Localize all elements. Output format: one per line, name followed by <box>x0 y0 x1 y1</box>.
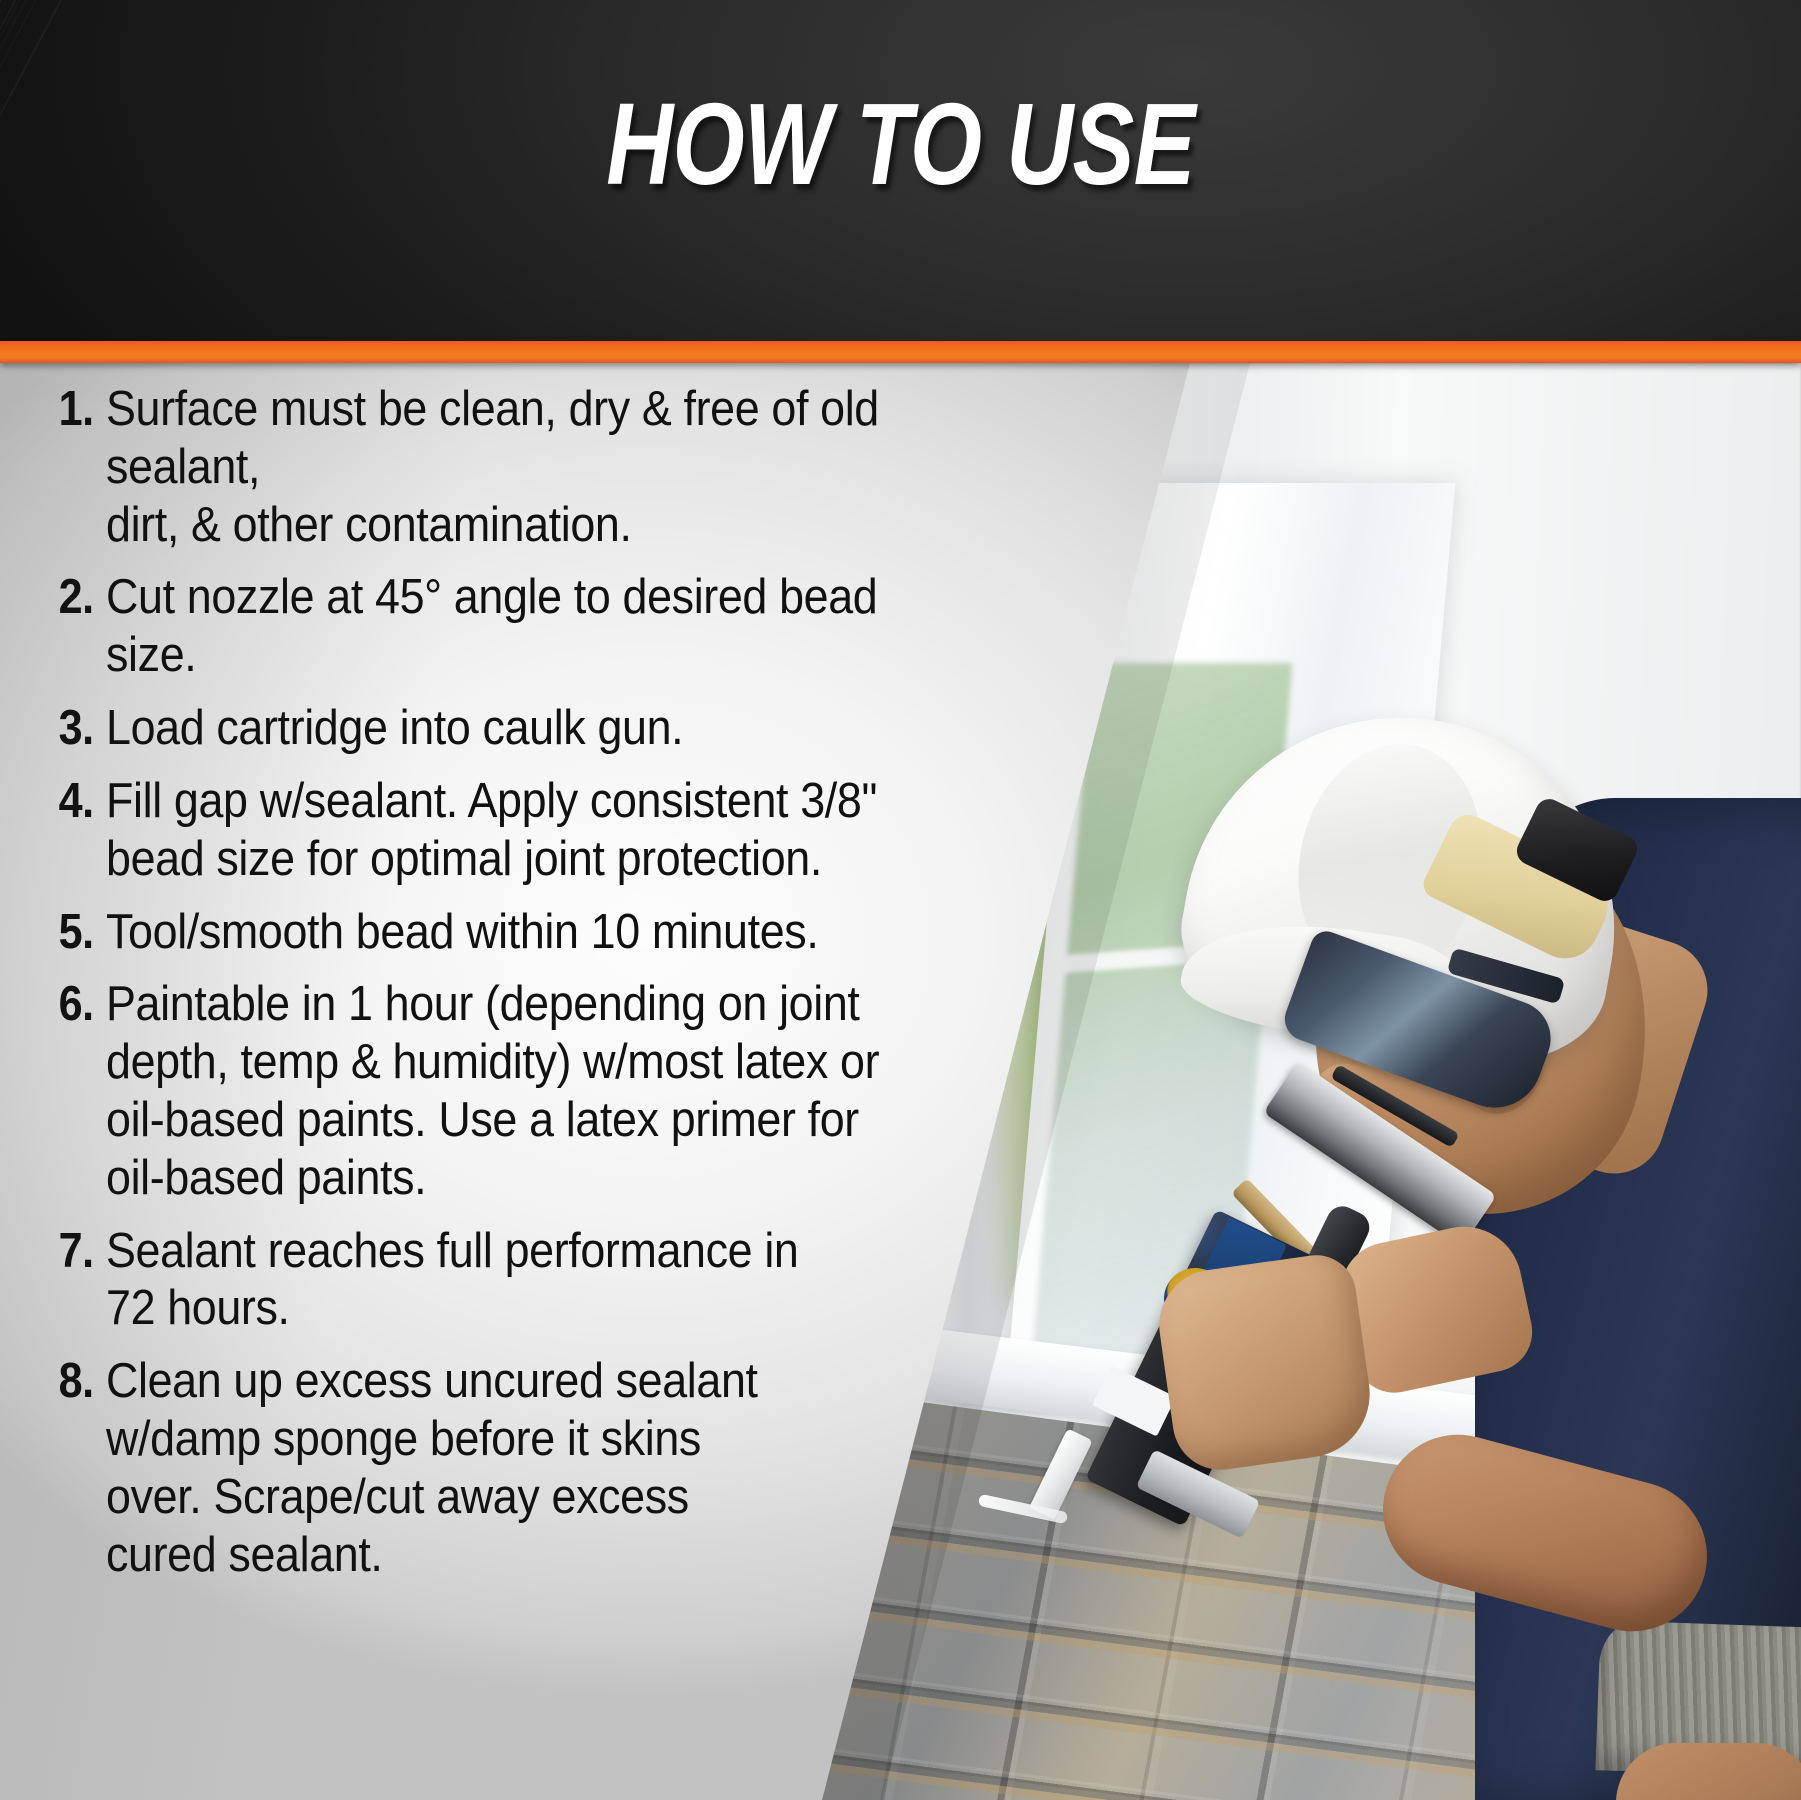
how-to-use-panel: HOW TO USE <box>0 0 1801 1800</box>
step-text: Paintable in 1 hour (depending on joint … <box>106 976 973 1207</box>
list-item: 3. Load cartridge into caulk gun. <box>44 700 1054 758</box>
step-number: 5. <box>51 904 106 962</box>
list-item: 1. Surface must be clean, dry & free of … <box>44 381 1054 554</box>
step-text: Cut nozzle at 45° angle to desired bead … <box>106 569 973 685</box>
step-number: 2. <box>51 569 106 627</box>
worker-hand-guiding-cartridge <box>1152 1250 1378 1476</box>
list-item: 7. Sealant reaches full performance in 7… <box>44 1223 1054 1339</box>
step-text: Tool/smooth bead within 10 minutes. <box>106 904 973 962</box>
step-text: Surface must be clean, dry & free of old… <box>106 381 973 554</box>
list-item: 4. Fill gap w/sealant. Apply consistent … <box>44 773 1054 889</box>
worker-upper-arm <box>1616 1743 1801 1800</box>
step-number: 6. <box>51 976 106 1034</box>
content-area: 1. Surface must be clean, dry & free of … <box>0 363 1801 1800</box>
orange-accent-bar <box>0 341 1801 363</box>
step-text: Fill gap w/sealant. Apply consistent 3/8… <box>106 773 973 889</box>
step-number: 1. <box>51 381 106 439</box>
page-title: HOW TO USE <box>180 86 1621 202</box>
step-number: 4. <box>51 773 106 831</box>
list-item: 5. Tool/smooth bead within 10 minutes. <box>44 904 1054 962</box>
step-text: Sealant reaches full performance in 72 h… <box>106 1223 973 1339</box>
step-text: Clean up excess uncured sealant w/damp s… <box>106 1353 973 1584</box>
step-number: 7. <box>51 1223 106 1281</box>
list-item: 8. Clean up excess uncured sealant w/dam… <box>44 1353 1054 1584</box>
instruction-list: 1. Surface must be clean, dry & free of … <box>44 381 1054 1599</box>
step-number: 8. <box>51 1353 106 1411</box>
header-banner: HOW TO USE <box>0 0 1801 341</box>
step-text: Load cartridge into caulk gun. <box>106 700 973 758</box>
step-number: 3. <box>51 700 106 758</box>
list-item: 6. Paintable in 1 hour (depending on joi… <box>44 976 1054 1207</box>
list-item: 2. Cut nozzle at 45° angle to desired be… <box>44 569 1054 685</box>
